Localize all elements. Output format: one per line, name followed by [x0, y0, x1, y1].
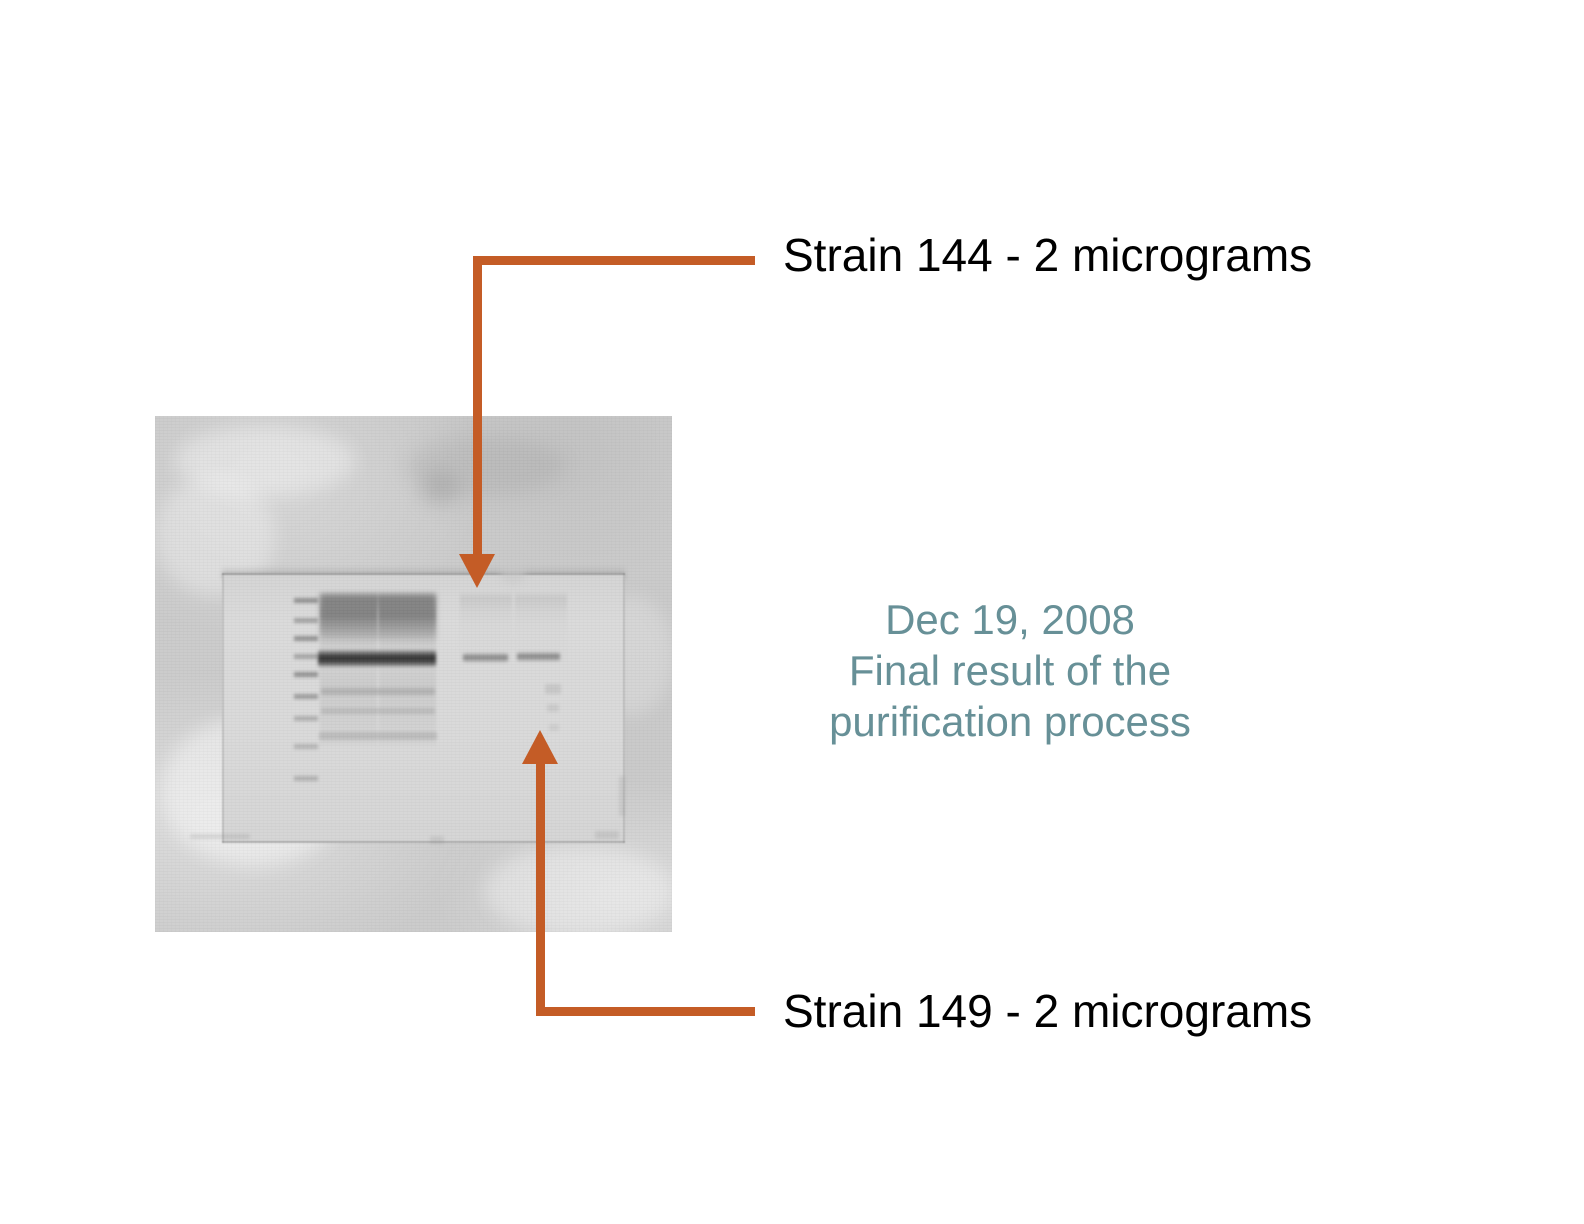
callout-label-strain-149: Strain 149 - 2 micrograms: [783, 984, 1312, 1038]
caption-date: Dec 19, 2008: [760, 594, 1260, 645]
callout-bottom-vertical-line: [536, 760, 545, 1016]
slide-canvas: Strain 144 - 2 micrograms Strain 149 - 2…: [0, 0, 1584, 1224]
callout-label-strain-144: Strain 144 - 2 micrograms: [783, 228, 1312, 282]
caption-line-2: Final result of the: [760, 645, 1260, 696]
caption-line-3: purification process: [760, 696, 1260, 747]
callout-top-arrowhead-icon: [459, 554, 495, 588]
callout-bottom-horizontal-line: [536, 1007, 755, 1016]
callout-top-vertical-line: [473, 256, 482, 556]
callout-bottom-arrowhead-icon: [522, 730, 558, 764]
photo-grain: [155, 416, 672, 932]
caption-block: Dec 19, 2008 Final result of the purific…: [760, 594, 1260, 747]
gel-photograph: [155, 416, 672, 932]
callout-top-horizontal-line: [473, 256, 755, 265]
